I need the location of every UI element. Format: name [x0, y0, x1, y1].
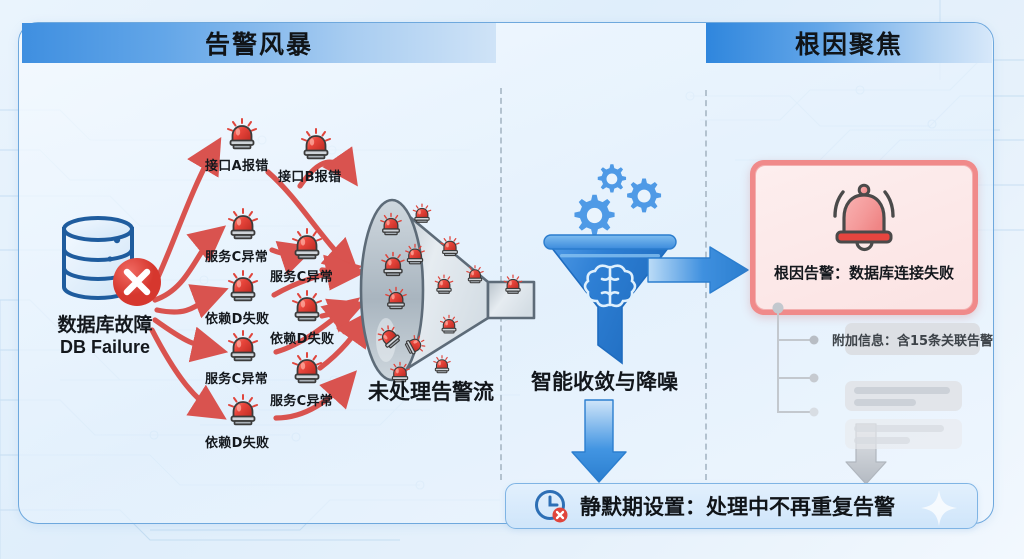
- arrow-to-root-cause: [648, 247, 748, 293]
- detail-chip-primary-label: 附加信息：含15条关联告警: [832, 330, 993, 349]
- detail-chip-placeholder-1: [845, 381, 962, 411]
- clock-mute-icon: [534, 489, 568, 523]
- arrow-to-banner: [572, 400, 626, 482]
- placeholder-bar-2a: [854, 425, 944, 432]
- silence-period-banner[interactable]: 静默期设置：处理中不再重复告警: [505, 483, 978, 529]
- root-cause-card-inner: 根因告警：数据库连接失败: [755, 165, 973, 310]
- placeholder-bar-2b: [854, 437, 910, 444]
- silence-period-text: 静默期设置：处理中不再重复告警: [580, 491, 895, 521]
- detail-chip-primary[interactable]: 附加信息：含15条关联告警: [845, 323, 980, 355]
- placeholder-bar-1b: [854, 399, 916, 406]
- ringing-bell-icon: [827, 176, 901, 258]
- root-cause-card[interactable]: 根因告警：数据库连接失败: [750, 160, 978, 315]
- sparkle-icon: [919, 488, 959, 528]
- detail-chip-placeholder-2: [845, 419, 962, 449]
- root-cause-text: 根因告警：数据库连接失败: [774, 262, 954, 283]
- placeholder-bar-1a: [854, 387, 950, 394]
- infographic-canvas: 告警风暴 根因聚焦: [0, 0, 1024, 559]
